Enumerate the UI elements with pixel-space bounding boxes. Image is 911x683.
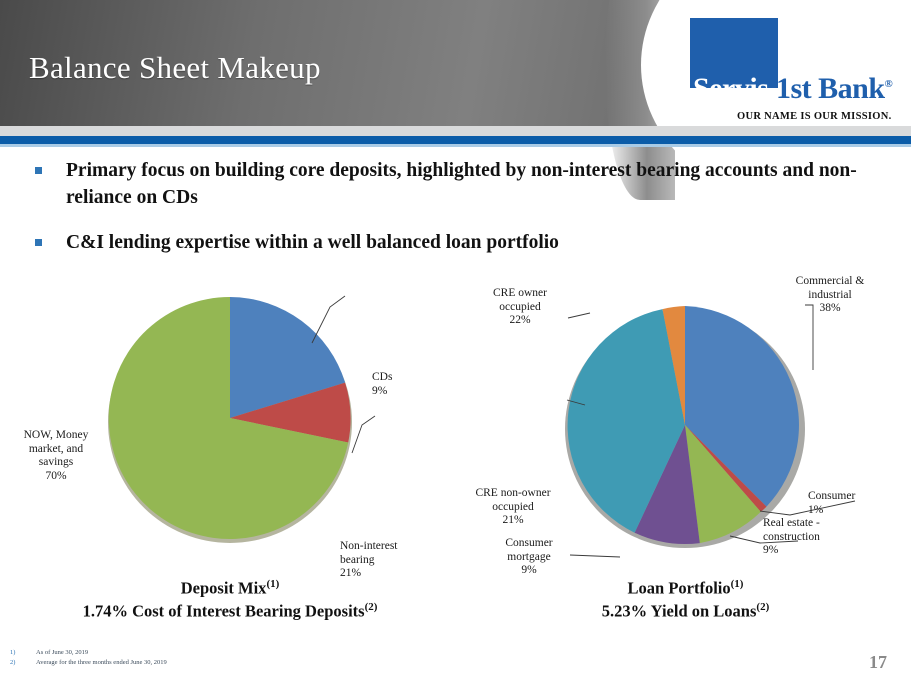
logo-1st-bank-text: 1st Bank®	[776, 74, 892, 104]
header-divider-blue	[0, 136, 911, 144]
pie-label-cre-non-owner-occupied: CRE non-owner occupied 21%	[460, 487, 566, 528]
loan-portfolio-chart: Commercial & industrial 38% Consumer 1% …	[460, 265, 911, 625]
footnote-item: 2) Average for the three months ended Ju…	[10, 658, 167, 668]
pie-label-consumer: Consumer 1%	[808, 490, 908, 517]
footnote-marker: 2)	[10, 658, 36, 668]
loan-portfolio-subtitle-footnote: (2)	[756, 601, 769, 613]
bullet-square-icon	[35, 167, 42, 174]
bullet-square-icon	[35, 239, 42, 246]
pie-label-now-money-market-savings: NOW, Money market, and savings 70%	[0, 429, 112, 483]
footnote-item: 1) As of June 30, 2019	[10, 648, 167, 658]
deposit-mix-title-footnote: (1)	[266, 578, 279, 590]
deposit-mix-title-line: Deposit Mix(1)	[0, 577, 460, 600]
pie-label-cds: CDs 9%	[372, 371, 452, 398]
slide-root: Balance Sheet Makeup Servis 1st Bank® OU…	[0, 0, 911, 683]
bullet-text: C&I lending expertise within a well bala…	[66, 230, 870, 257]
footnote-marker: 1)	[10, 648, 36, 658]
header-divider-gray	[0, 126, 911, 136]
footnote-list: 1) As of June 30, 2019 2) Average for th…	[10, 648, 167, 668]
pie-label-non-interest-bearing: Non-interest bearing 21%	[340, 540, 450, 581]
bullet-text: Primary focus on building core deposits,…	[66, 158, 870, 212]
footnote-text: Average for the three months ended June …	[36, 658, 167, 668]
bullet-list: Primary focus on building core deposits,…	[30, 158, 870, 275]
deposit-mix-subtitle: 1.74% Cost of Interest Bearing Deposits	[83, 601, 365, 620]
list-item: C&I lending expertise within a well bala…	[30, 230, 870, 257]
loan-portfolio-caption: Loan Portfolio(1) 5.23% Yield on Loans(2…	[460, 577, 911, 623]
registered-trademark-icon: ®	[885, 78, 893, 90]
logo-servis-text: Servis	[693, 74, 768, 104]
loan-portfolio-subtitle: 5.23% Yield on Loans	[602, 601, 757, 620]
servis1st-bank-logo: Servis 1st Bank® OUR NAME IS OUR MISSION…	[690, 18, 902, 130]
header-divider-pale-blue	[0, 144, 911, 147]
deposit-mix-chart: Non-interest bearing 21% CDs 9% NOW, Mon…	[0, 265, 460, 625]
pie-label-consumer-mortgage: Consumer mortgage 9%	[484, 537, 574, 578]
logo-tagline: OUR NAME IS OUR MISSION.	[737, 111, 892, 122]
deposit-mix-caption: Deposit Mix(1) 1.74% Cost of Interest Be…	[0, 577, 460, 623]
list-item: Primary focus on building core deposits,…	[30, 158, 870, 212]
deposit-mix-subtitle-line: 1.74% Cost of Interest Bearing Deposits(…	[0, 600, 460, 623]
pie-label-real-estate-construction: Real estate - construction 9%	[763, 517, 873, 558]
loan-portfolio-title-footnote: (1)	[731, 578, 744, 590]
deposit-mix-title: Deposit Mix	[181, 579, 267, 598]
loan-portfolio-title: Loan Portfolio	[628, 579, 731, 598]
pie-label-cre-owner-occupied: CRE owner occupied 22%	[474, 287, 566, 328]
footnote-text: As of June 30, 2019	[36, 648, 88, 658]
pie-label-commercial-industrial: Commercial & industrial 38%	[760, 275, 900, 316]
page-title: Balance Sheet Makeup	[29, 50, 321, 86]
logo-1st-bank-label: 1st Bank	[776, 72, 885, 105]
loan-portfolio-title-line: Loan Portfolio(1)	[460, 577, 911, 600]
page-number: 17	[869, 652, 887, 673]
deposit-mix-subtitle-footnote: (2)	[365, 601, 378, 613]
loan-portfolio-subtitle-line: 5.23% Yield on Loans(2)	[460, 600, 911, 623]
